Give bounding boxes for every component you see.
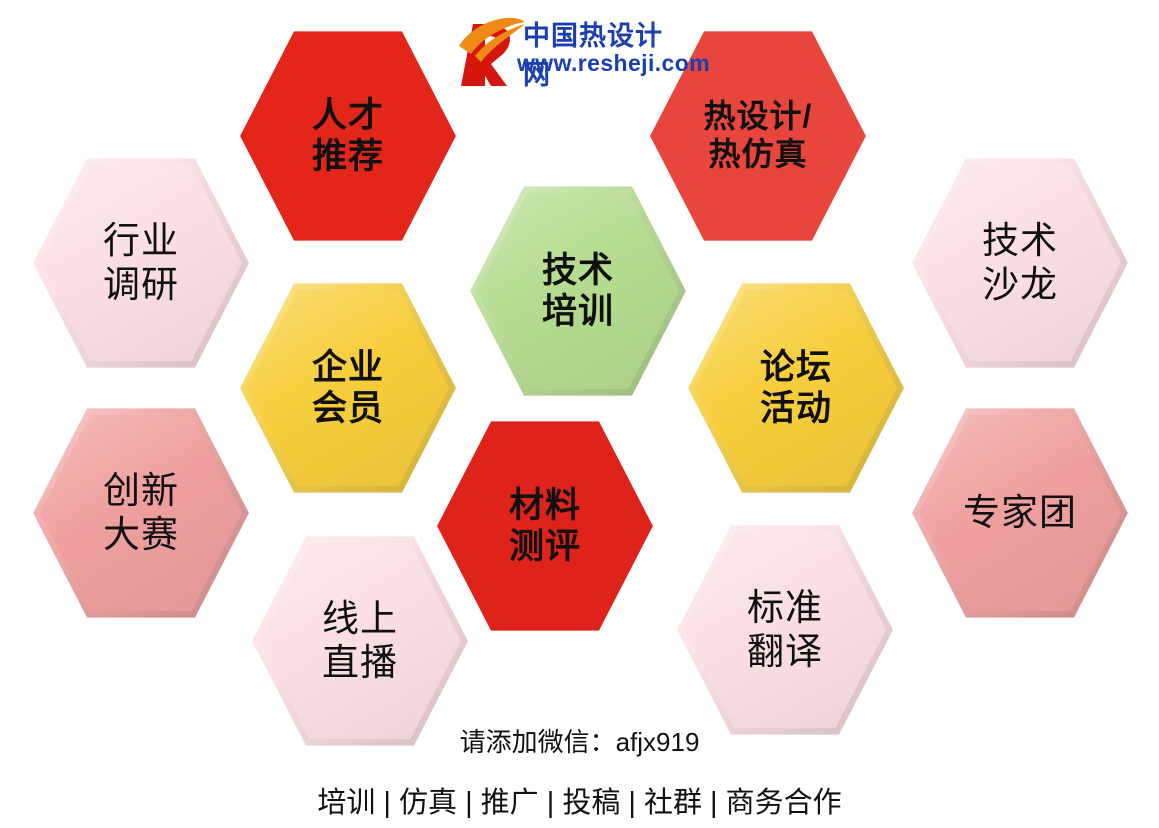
hex-label: 企业 会员 [312, 347, 384, 430]
hexagon-service-map: 人才 推荐热设计/ 热仿真行业 调研技术 沙龙技术 培训企业 会员论坛 活动创新… [0, 0, 1159, 828]
hex-tile-standard-translation[interactable]: 标准 翻译 [677, 522, 893, 738]
hex-label: 热设计/ 热仿真 [704, 98, 813, 174]
hex-label: 论坛 活动 [760, 347, 832, 430]
hex-label: 技术 培训 [542, 250, 614, 333]
hex-label: 材料 测评 [509, 485, 581, 568]
hex-label: 技术 沙龙 [982, 219, 1058, 306]
hex-tile-innovation-contest[interactable]: 创新 大赛 [33, 405, 249, 621]
hex-tile-enterprise-member[interactable]: 企业 会员 [240, 280, 456, 496]
services-list-text: 培训 | 仿真 | 推广 | 投稿 | 社群 | 商务合作 [0, 779, 1159, 821]
hex-label: 人才 推荐 [312, 95, 384, 178]
hex-tile-tech-salon[interactable]: 技术 沙龙 [912, 155, 1128, 371]
hex-tile-material-evaluation[interactable]: 材料 测评 [437, 418, 653, 634]
hex-tile-forum-activity[interactable]: 论坛 活动 [688, 280, 904, 496]
site-logo: 中国热设计网 www.resheji.com [455, 12, 685, 90]
hex-label: 标准 翻译 [747, 586, 823, 673]
hex-label: 线上 直播 [322, 597, 398, 684]
hex-tile-expert-team[interactable]: 专家团 [912, 405, 1128, 621]
logo-url: www.resheji.com [517, 50, 710, 77]
hex-tile-online-live[interactable]: 线上 直播 [252, 533, 468, 749]
hex-tile-tech-training[interactable]: 技术 培训 [470, 183, 686, 399]
hex-tile-talent-recommendation[interactable]: 人才 推荐 [240, 28, 456, 244]
hex-label: 创新 大赛 [103, 469, 179, 556]
hex-label: 专家团 [963, 491, 1077, 535]
hex-label: 行业 调研 [103, 219, 179, 306]
hex-tile-industry-research[interactable]: 行业 调研 [33, 155, 249, 371]
wechat-contact-text: 请添加微信：afjx919 [0, 722, 1159, 759]
